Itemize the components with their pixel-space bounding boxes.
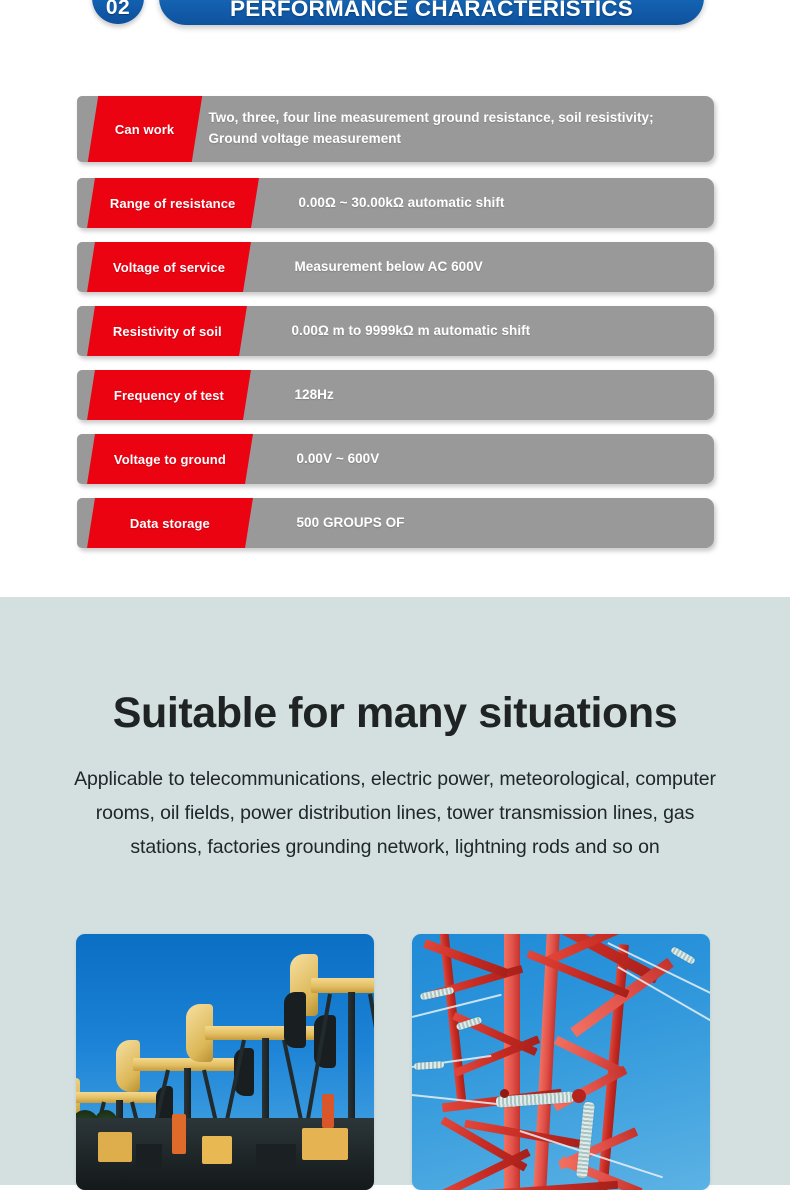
spec-row: Voltage to ground 0.00V ~ 600V [77,434,714,484]
spec-value-resistivity-of-soil: 0.00Ω m to 9999kΩ m automatic shift [292,306,531,356]
spec-row: Voltage of service Measurement below AC … [77,242,714,292]
oilfield-pumpjacks-photo [76,934,374,1190]
step-number-badge: 02 [92,0,144,24]
spec-row: Range of resistance 0.00Ω ~ 30.00kΩ auto… [77,178,714,228]
spec-label-voltage-to-ground: Voltage to ground [86,434,254,484]
spec-label-frequency-of-test: Frequency of test [86,370,252,420]
section-header-banner: 02 PERFORMANCE CHARACTERISTICS [0,0,790,48]
step-number-label: 02 [106,0,130,20]
spec-label-range-of-resistance: Range of resistance [86,178,260,228]
specifications-list: Can work Two, three, four line measureme… [0,96,790,562]
situations-heading: Suitable for many situations [0,689,790,738]
spec-label-voltage-of-service: Voltage of service [86,242,252,292]
spec-value-voltage-of-service: Measurement below AC 600V [295,242,483,292]
spec-value-can-work: Two, three, four line measurement ground… [209,96,701,162]
section-title-label: PERFORMANCE CHARACTERISTICS [230,0,633,22]
spec-row: Data storage 500 GROUPS OF [77,498,714,548]
spec-label-data-storage: Data storage [86,498,254,548]
situations-description: Applicable to telecommunications, electr… [62,762,728,864]
situations-section: Suitable for many situations Applicable … [0,597,790,1185]
transmission-tower-photo [412,934,710,1190]
spec-value-data-storage: 500 GROUPS OF [297,498,405,548]
spec-value-voltage-to-ground: 0.00V ~ 600V [297,434,380,484]
spec-value-range-of-resistance: 0.00Ω ~ 30.00kΩ automatic shift [299,178,505,228]
section-title-pill: PERFORMANCE CHARACTERISTICS [159,0,704,25]
spec-row: Resistivity of soil 0.00Ω m to 9999kΩ m … [77,306,714,356]
spec-row: Frequency of test 128Hz [77,370,714,420]
spec-value-frequency-of-test: 128Hz [295,370,334,420]
spec-label-can-work: Can work [86,96,202,162]
spec-label-resistivity-of-soil: Resistivity of soil [86,306,248,356]
spec-row: Can work Two, three, four line measureme… [77,96,714,162]
